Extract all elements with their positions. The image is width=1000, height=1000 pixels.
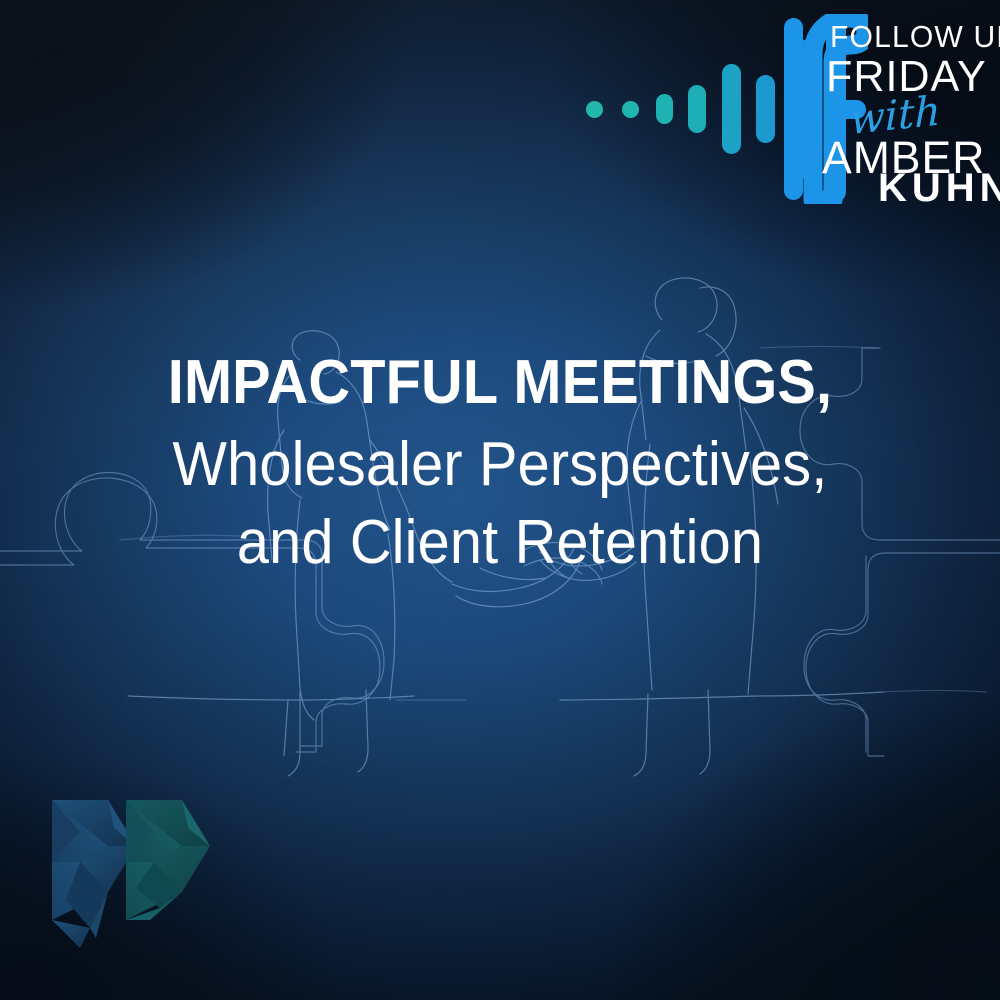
waveform-bar-5: [722, 64, 741, 154]
waveform-bar-6: [756, 75, 775, 143]
headline-line-1: IMPACTFUL MEETINGS,: [35, 352, 965, 414]
logo-line-follow-up: FOLLOW UP: [830, 19, 1000, 55]
logo-text-block: FOLLOW UP FRIDAY with AMBER KUHN: [826, 14, 1000, 204]
logo-line-kuhn: KUHN: [878, 166, 1000, 211]
waveform-bar-3: [656, 94, 673, 124]
waveform-bar-1: [586, 101, 603, 118]
headline-line-3: and Client Retention: [35, 512, 965, 574]
chevron-left-blue: [52, 800, 136, 948]
headline-block: IMPACTFUL MEETINGS, Wholesaler Perspecti…: [0, 352, 1000, 574]
podcast-logo: FOLLOW UP FRIDAY with AMBER KUHN: [586, 14, 986, 204]
waveform-bar-2: [622, 101, 639, 118]
double-chevron-logo: [40, 788, 230, 956]
headline-line-2: Wholesaler Perspectives,: [35, 434, 965, 496]
social-graphic-canvas: IMPACTFUL MEETINGS, Wholesaler Perspecti…: [0, 0, 1000, 1000]
waveform-icon: [586, 14, 806, 204]
chevron-right-teal: [126, 800, 210, 920]
waveform-bar-4: [688, 85, 706, 133]
